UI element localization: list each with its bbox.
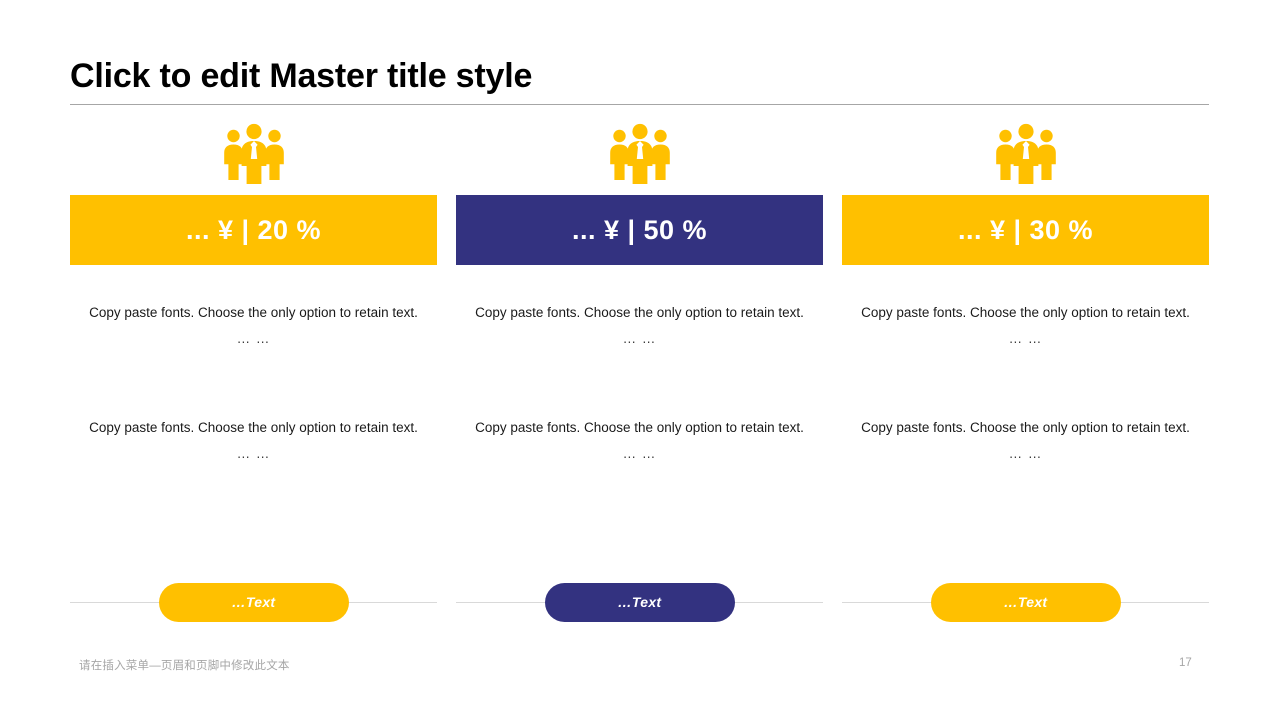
body-dots: … …: [89, 326, 419, 352]
body-dots: … …: [861, 441, 1191, 467]
body-block-3-1: Copy paste fonts. Choose the only option…: [861, 300, 1191, 351]
body-dots: … …: [475, 441, 805, 467]
cta-cell-3: …Text: [842, 580, 1209, 624]
value-bar-1: ... ¥ | 20 %: [70, 195, 437, 265]
body-paragraph: Copy paste fonts. Choose the only option…: [861, 415, 1191, 441]
column-1: ... ¥ | 20 % Copy paste fonts. Choose th…: [70, 122, 437, 467]
columns-container: ... ¥ | 20 % Copy paste fonts. Choose th…: [70, 122, 1210, 467]
body-dots: … …: [89, 441, 419, 467]
body-block-2-2: Copy paste fonts. Choose the only option…: [475, 415, 805, 466]
cta-button-3[interactable]: …Text: [931, 583, 1121, 622]
body-block-3-2: Copy paste fonts. Choose the only option…: [861, 415, 1191, 466]
cta-button-2[interactable]: …Text: [545, 583, 735, 622]
team-group-icon: [991, 122, 1061, 184]
title-divider: [70, 104, 1209, 105]
body-block-2-1: Copy paste fonts. Choose the only option…: [475, 300, 805, 351]
value-bar-2: ... ¥ | 50 %: [456, 195, 823, 265]
footer-placeholder[interactable]: 请在插入菜单—页眉和页脚中修改此文本: [79, 657, 290, 673]
body-paragraph: Copy paste fonts. Choose the only option…: [475, 300, 805, 326]
team-group-icon: [219, 122, 289, 184]
column-2: ... ¥ | 50 % Copy paste fonts. Choose th…: [456, 122, 823, 467]
body-paragraph: Copy paste fonts. Choose the only option…: [89, 300, 419, 326]
body-paragraph: Copy paste fonts. Choose the only option…: [861, 300, 1191, 326]
value-bar-3: ... ¥ | 30 %: [842, 195, 1209, 265]
body-paragraph: Copy paste fonts. Choose the only option…: [475, 415, 805, 441]
body-dots: … …: [861, 326, 1191, 352]
page-title: Click to edit Master title style: [70, 58, 1210, 95]
column-3: ... ¥ | 30 % Copy paste fonts. Choose th…: [842, 122, 1209, 467]
cta-button-1[interactable]: …Text: [159, 583, 349, 622]
title-placeholder[interactable]: Click to edit Master title style: [70, 58, 1210, 95]
team-group-icon: [605, 122, 675, 184]
body-block-1-2: Copy paste fonts. Choose the only option…: [89, 415, 419, 466]
cta-cell-2: …Text: [456, 580, 823, 624]
body-block-1-1: Copy paste fonts. Choose the only option…: [89, 300, 419, 351]
cta-cell-1: …Text: [70, 580, 437, 624]
body-paragraph: Copy paste fonts. Choose the only option…: [89, 415, 419, 441]
body-dots: … …: [475, 326, 805, 352]
cta-row: …Text …Text …Text: [70, 580, 1210, 624]
page-number: 17: [1179, 657, 1192, 669]
slide-canvas: Click to edit Master title style ... ¥ |…: [0, 0, 1280, 720]
